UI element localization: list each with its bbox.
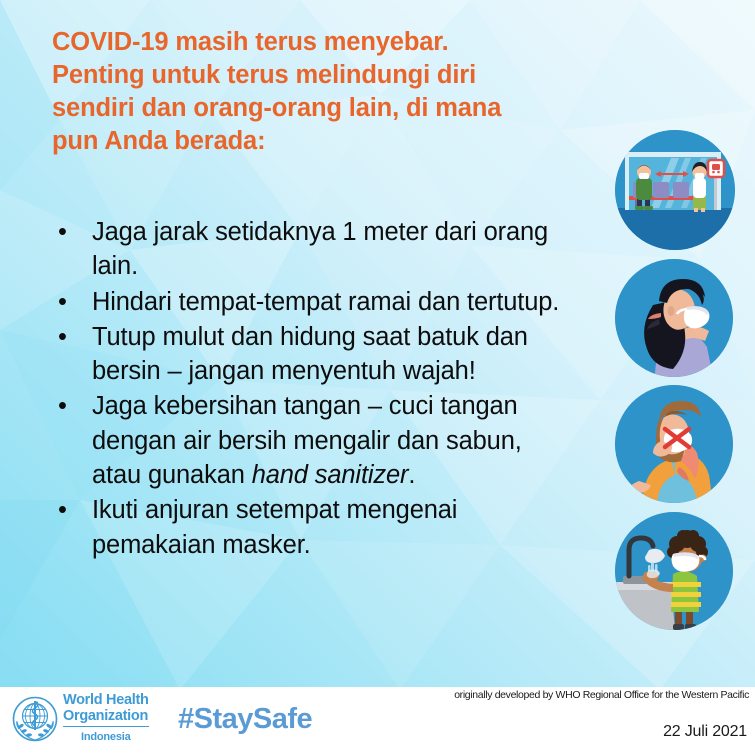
list-item: • Tutup mulut dan hidung saat batuk dan … bbox=[52, 320, 572, 389]
who-wordmark: World Health Organization Indonesia bbox=[63, 693, 149, 745]
who-wordmark-line-2: Organization bbox=[63, 709, 149, 725]
list-item-text: Tutup mulut dan hidung saat batuk dan be… bbox=[92, 320, 572, 389]
headline-line-3: sendiri dan orang-orang lain, di mana bbox=[52, 92, 582, 125]
who-logo: World Health Organization Indonesia bbox=[12, 693, 149, 745]
bullet-marker-icon: • bbox=[58, 285, 67, 319]
list-item-text: Ikuti anjuran setempat mengenai pemakaia… bbox=[92, 493, 572, 562]
who-country-divider: Indonesia bbox=[63, 726, 149, 745]
safety-measures-list: • Jaga jarak setidaknya 1 meter dari ora… bbox=[52, 215, 572, 563]
headline: COVID-19 masih terus menyebar. Penting u… bbox=[52, 26, 582, 159]
list-item-text-emphasis: hand sanitizer bbox=[252, 461, 409, 489]
bullet-marker-icon: • bbox=[58, 389, 67, 423]
who-emblem-icon bbox=[12, 696, 58, 742]
attribution-text: originally developed by WHO Regional Off… bbox=[454, 689, 749, 701]
list-item-text-after: . bbox=[408, 461, 415, 489]
who-country-label: Indonesia bbox=[81, 731, 131, 743]
illustration-physical-distancing-bus-stop bbox=[615, 130, 735, 250]
headline-line-4: pun Anda berada: bbox=[52, 125, 582, 158]
headline-line-2: Penting untuk terus melindungi diri bbox=[52, 59, 582, 92]
list-item: • Jaga jarak setidaknya 1 meter dari ora… bbox=[52, 215, 572, 284]
illustration-cover-cough-do-not-touch-face bbox=[615, 385, 733, 503]
list-item-text: Jaga jarak setidaknya 1 meter dari orang… bbox=[92, 215, 572, 284]
publication-date: 22 Juli 2021 bbox=[663, 723, 747, 741]
bullet-marker-icon: • bbox=[58, 320, 67, 354]
footer-bar: World Health Organization Indonesia #Sta… bbox=[0, 687, 755, 755]
list-item-text: Jaga kebersihan tangan – cuci tangan den… bbox=[92, 389, 572, 492]
who-wordmark-line-1: World Health bbox=[63, 693, 149, 709]
list-item: • Ikuti anjuran setempat mengenai pemaka… bbox=[52, 493, 572, 562]
illustration-handwashing-at-sink bbox=[615, 512, 733, 630]
illustration-woman-wearing-mask bbox=[615, 259, 733, 377]
headline-line-1: COVID-19 masih terus menyebar. bbox=[52, 26, 582, 59]
list-item-text: Hindari tempat-tempat ramai dan tertutup… bbox=[92, 285, 572, 319]
bullet-marker-icon: • bbox=[58, 493, 67, 527]
bullet-marker-icon: • bbox=[58, 215, 67, 249]
list-item: • Jaga kebersihan tangan – cuci tangan d… bbox=[52, 389, 572, 492]
list-item: • Hindari tempat-tempat ramai dan tertut… bbox=[52, 285, 572, 319]
staysafe-hashtag: #StaySafe bbox=[178, 703, 312, 736]
covid-safety-infographic: COVID-19 masih terus menyebar. Penting u… bbox=[0, 0, 755, 755]
